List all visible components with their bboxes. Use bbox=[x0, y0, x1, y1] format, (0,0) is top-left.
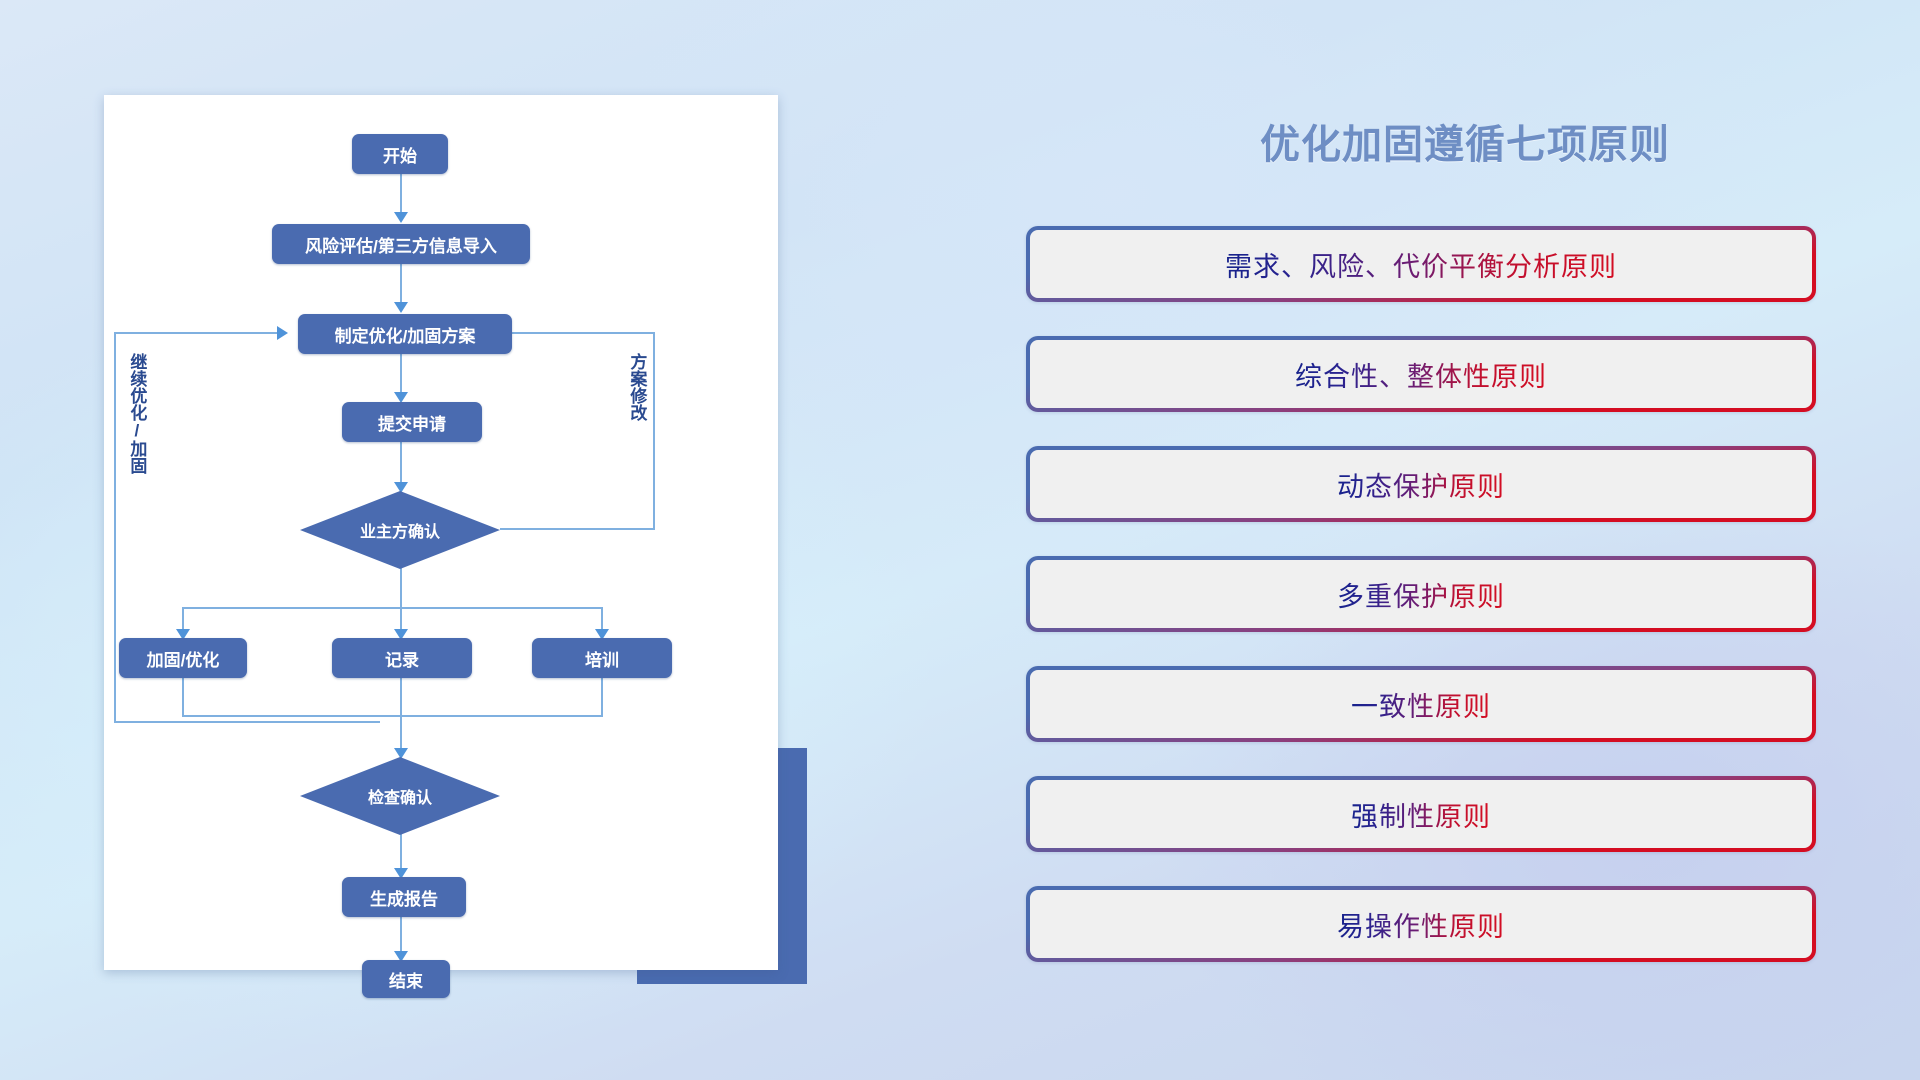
flow-node-generate-report[interactable]: 生成报告 bbox=[342, 877, 466, 917]
arrowhead-left-to-plan bbox=[277, 326, 288, 340]
flow-node-generate-report-label: 生成报告 bbox=[370, 885, 438, 910]
flowchart-stage: 开始 风险评估/第三方信息导入 制定优化/加固方案 提交申请 业主方确认 加固/… bbox=[0, 0, 840, 1080]
connector-submit-to-owner bbox=[400, 440, 402, 488]
flow-node-make-plan-label: 制定优化/加固方案 bbox=[335, 322, 476, 347]
principle-label-2: 综合性、整体性原则 bbox=[1295, 355, 1547, 394]
principle-item-1[interactable]: 需求、风险、代价平衡分析原则 bbox=[1026, 226, 1816, 302]
flow-node-training[interactable]: 培训 bbox=[532, 638, 672, 678]
flowchart-canvas: 开始 风险评估/第三方信息导入 制定优化/加固方案 提交申请 业主方确认 加固/… bbox=[104, 95, 778, 970]
connector-left-riser bbox=[114, 332, 116, 723]
principle-item-7[interactable]: 易操作性原则 bbox=[1026, 886, 1816, 962]
flow-node-record[interactable]: 记录 bbox=[332, 638, 472, 678]
connector-record-to-check bbox=[400, 677, 402, 755]
principle-item-6[interactable]: 强制性原则 bbox=[1026, 776, 1816, 852]
flowchart-card: 开始 风险评估/第三方信息导入 制定优化/加固方案 提交申请 业主方确认 加固/… bbox=[104, 95, 778, 970]
connector-training-down bbox=[601, 677, 603, 717]
flow-node-record-label: 记录 bbox=[385, 646, 419, 671]
principle-item-5[interactable]: 一致性原则 bbox=[1026, 666, 1816, 742]
principles-list: 需求、风险、代价平衡分析原则 综合性、整体性原则 动态保护原则 多重保护原则 一… bbox=[1026, 226, 1816, 962]
principle-label-1: 需求、风险、代价平衡分析原则 bbox=[1225, 245, 1617, 284]
flow-node-risk-assessment[interactable]: 风险评估/第三方信息导入 bbox=[272, 224, 530, 264]
principle-label-5: 一致性原则 bbox=[1351, 685, 1491, 724]
principle-label-4: 多重保护原则 bbox=[1337, 575, 1505, 614]
connector-right-riser bbox=[653, 332, 655, 530]
flow-node-end-label: 结束 bbox=[389, 967, 423, 992]
flow-node-submit-application-label: 提交申请 bbox=[378, 410, 446, 435]
principle-label-6: 强制性原则 bbox=[1351, 795, 1491, 834]
principle-item-4[interactable]: 多重保护原则 bbox=[1026, 556, 1816, 632]
connector-left-to-plan bbox=[114, 332, 279, 334]
principle-label-3: 动态保护原则 bbox=[1337, 465, 1505, 504]
flow-node-submit-application[interactable]: 提交申请 bbox=[342, 402, 482, 442]
arrowhead-submit-to-owner bbox=[394, 482, 408, 493]
connector-owner-to-right bbox=[500, 528, 655, 530]
flow-node-end[interactable]: 结束 bbox=[362, 960, 450, 998]
flow-node-reinforce-optimize[interactable]: 加固/优化 bbox=[119, 638, 247, 678]
flow-node-risk-assessment-label: 风险评估/第三方信息导入 bbox=[305, 232, 497, 257]
connector-owner-down bbox=[400, 568, 402, 608]
principle-item-3[interactable]: 动态保护原则 bbox=[1026, 446, 1816, 522]
connector-reinforce-down bbox=[182, 677, 184, 717]
flow-node-start-label: 开始 bbox=[383, 142, 417, 167]
principles-panel: 优化加固遵循七项原则 需求、风险、代价平衡分析原则 综合性、整体性原则 动态保护… bbox=[1010, 0, 1920, 1080]
connector-check-to-left bbox=[114, 721, 380, 723]
flow-node-check-confirm-label: 检查确认 bbox=[368, 784, 432, 808]
flow-node-reinforce-optimize-label: 加固/优化 bbox=[147, 646, 220, 671]
flow-node-training-label: 培训 bbox=[585, 646, 619, 671]
flow-node-owner-confirm-label: 业主方确认 bbox=[360, 518, 440, 542]
edge-label-plan-revise: 方案修改 bbox=[628, 353, 645, 463]
principle-item-2[interactable]: 综合性、整体性原则 bbox=[1026, 336, 1816, 412]
arrowhead-risk-to-plan bbox=[394, 302, 408, 313]
edge-label-continue-optimize: 继续优化/加固 bbox=[128, 353, 145, 503]
flow-node-start[interactable]: 开始 bbox=[352, 134, 448, 174]
flow-node-owner-confirm[interactable]: 业主方确认 bbox=[300, 491, 500, 569]
arrowhead-to-check bbox=[394, 748, 408, 759]
flow-node-make-plan[interactable]: 制定优化/加固方案 bbox=[298, 314, 512, 354]
principle-label-7: 易操作性原则 bbox=[1337, 905, 1505, 944]
merge-bus bbox=[182, 715, 603, 717]
flow-node-check-confirm[interactable]: 检查确认 bbox=[300, 757, 500, 835]
connector-right-to-plan bbox=[512, 332, 655, 334]
arrowhead-start-to-risk bbox=[394, 212, 408, 223]
panel-title: 优化加固遵循七项原则 bbox=[1010, 112, 1920, 170]
branch-bus-top bbox=[182, 607, 602, 609]
